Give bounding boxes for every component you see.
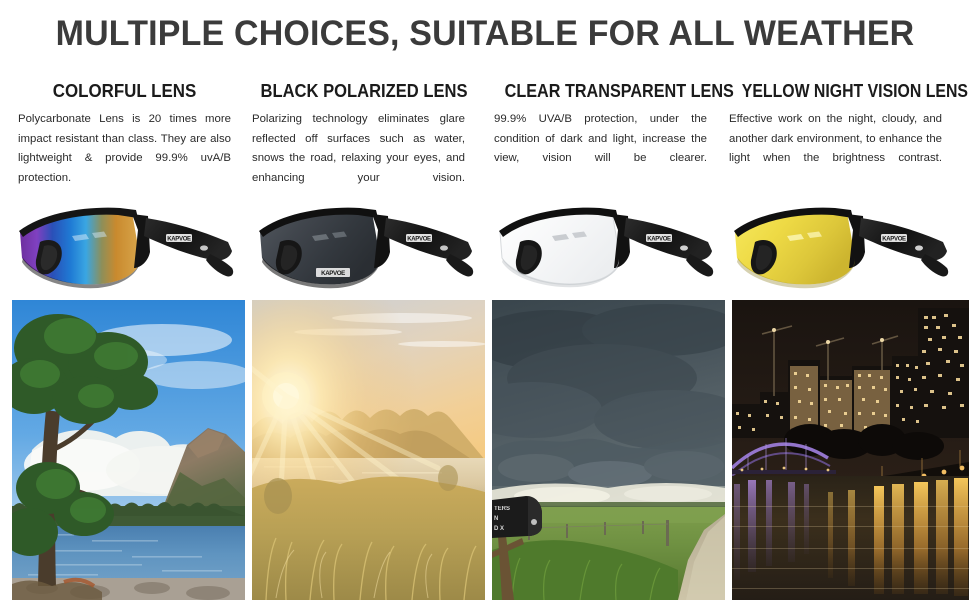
weather-photo-strip: TERS N D X: [12, 300, 958, 600]
feature-title: CLEAR TRANSPARENT LENS: [505, 80, 697, 102]
yellow-night-vision-lens-image: KAPVOE: [729, 196, 955, 296]
feature-description: Polarizing technology eliminates glare r…: [252, 110, 465, 208]
svg-text:TERS: TERS: [494, 506, 510, 512]
feature-column-black-polarized: BLACK POLARIZED LENS Polarizing technolo…: [252, 80, 465, 208]
feature-column-colorful: COLORFUL LENS Polycarbonate Lens is 20 t…: [18, 80, 231, 208]
golden-sunrise-lake-photo: [252, 300, 485, 600]
feature-title: COLORFUL LENS: [24, 80, 224, 102]
night-city-river-lights-photo: [732, 300, 969, 600]
feature-column-clear-transparent: CLEAR TRANSPARENT LENS 99.9% UVA/B prote…: [494, 80, 707, 188]
feature-column-yellow-night-vision: YELLOW NIGHT VISION LENS Effective work …: [729, 80, 942, 188]
sunny-lake-mountain-photo: [12, 300, 245, 600]
feature-description: Effective work on the night, cloudy, and…: [729, 110, 942, 188]
colorful-iridescent-lens-image: KAPVOE: [14, 196, 240, 296]
feature-title: YELLOW NIGHT VISION LENS: [742, 80, 929, 102]
feature-title: BLACK POLARIZED LENS: [261, 80, 457, 102]
svg-text:KAPVOE: KAPVOE: [882, 237, 906, 243]
svg-text:KAPVOE: KAPVOE: [407, 237, 431, 243]
svg-text:KAPVOE: KAPVOE: [167, 237, 191, 243]
feature-description: Polycarbonate Lens is 20 times more impa…: [18, 110, 231, 208]
feature-columns: COLORFUL LENS Polycarbonate Lens is 20 t…: [0, 80, 970, 195]
clear-transparent-lens-image: KAPVOE: [494, 196, 720, 296]
black-polarized-lens-image: KAPVOE KAPVOE: [254, 196, 480, 296]
page-title: MULTIPLE CHOICES, SUITABLE FOR ALL WEATH…: [15, 14, 956, 54]
svg-text:D X: D X: [494, 526, 504, 532]
svg-text:KAPVOE: KAPVOE: [647, 237, 671, 243]
product-images-row: KAPVOE: [0, 196, 970, 296]
svg-text:N: N: [494, 516, 498, 522]
product-infographic: MULTIPLE CHOICES, SUITABLE FOR ALL WEATH…: [0, 0, 970, 600]
storm-clouds-field-mailbox-photo: TERS N D X: [492, 300, 725, 600]
feature-description: 99.9% UVA/B protection, under the condit…: [494, 110, 707, 188]
svg-text:KAPVOE: KAPVOE: [321, 270, 345, 277]
